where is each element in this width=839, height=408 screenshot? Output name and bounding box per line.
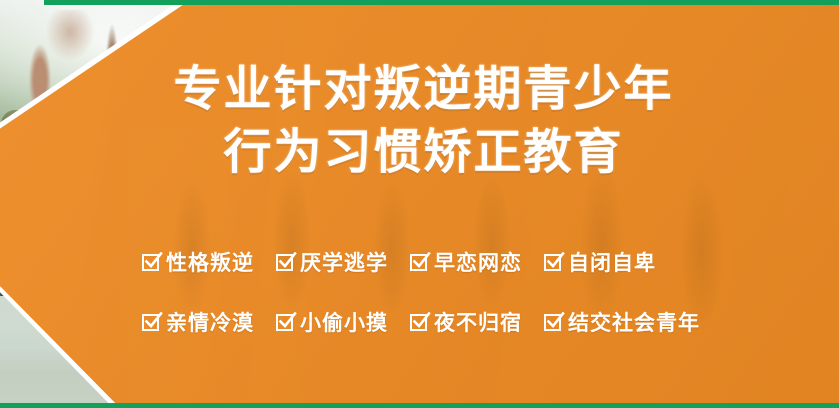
checklist-item[interactable]: 小偷小摸: [276, 307, 388, 337]
checklist-item-label: 结交社会青年: [568, 307, 700, 337]
checkbox-checked-icon[interactable]: [142, 314, 159, 331]
checklist-item[interactable]: 性格叛逆: [142, 247, 254, 277]
checkbox-checked-icon[interactable]: [410, 254, 427, 271]
checklist-item[interactable]: 早恋网恋: [410, 247, 522, 277]
promo-banner: 专业针对叛逆期青少年 行为习惯矫正教育 性格叛逆 厌学逃学 早恋网恋: [0, 0, 839, 408]
top-green-rule: [44, 0, 839, 5]
checklist-row-2: 亲情冷漠 小偷小摸 夜不归宿 结交社会青年: [142, 300, 742, 344]
checklist-item-label: 亲情冷漠: [166, 307, 254, 337]
checklist-item-label: 小偷小摸: [300, 307, 388, 337]
feature-checklist: 性格叛逆 厌学逃学 早恋网恋 自闭自卑: [142, 240, 742, 344]
checklist-item[interactable]: 夜不归宿: [410, 307, 522, 337]
checkbox-checked-icon[interactable]: [544, 254, 561, 271]
checkbox-checked-icon[interactable]: [410, 314, 427, 331]
checklist-row-1: 性格叛逆 厌学逃学 早恋网恋 自闭自卑: [142, 240, 742, 284]
checklist-item[interactable]: 自闭自卑: [544, 247, 656, 277]
checklist-item-label: 自闭自卑: [568, 247, 656, 277]
hexagon-texture-overlay: [0, 0, 839, 408]
checkbox-checked-icon[interactable]: [276, 254, 293, 271]
checklist-item[interactable]: 厌学逃学: [276, 247, 388, 277]
bottom-green-rule: [0, 403, 839, 408]
checklist-item-label: 性格叛逆: [166, 247, 254, 277]
checklist-item-label: 早恋网恋: [434, 247, 522, 277]
checklist-item[interactable]: 亲情冷漠: [142, 307, 254, 337]
checklist-item-label: 夜不归宿: [434, 307, 522, 337]
checkbox-checked-icon[interactable]: [544, 314, 561, 331]
checkbox-checked-icon[interactable]: [142, 254, 159, 271]
checkbox-checked-icon[interactable]: [276, 314, 293, 331]
hexagon-orange-panel: [0, 0, 839, 408]
checklist-item[interactable]: 结交社会青年: [544, 307, 700, 337]
checklist-item-label: 厌学逃学: [300, 247, 388, 277]
